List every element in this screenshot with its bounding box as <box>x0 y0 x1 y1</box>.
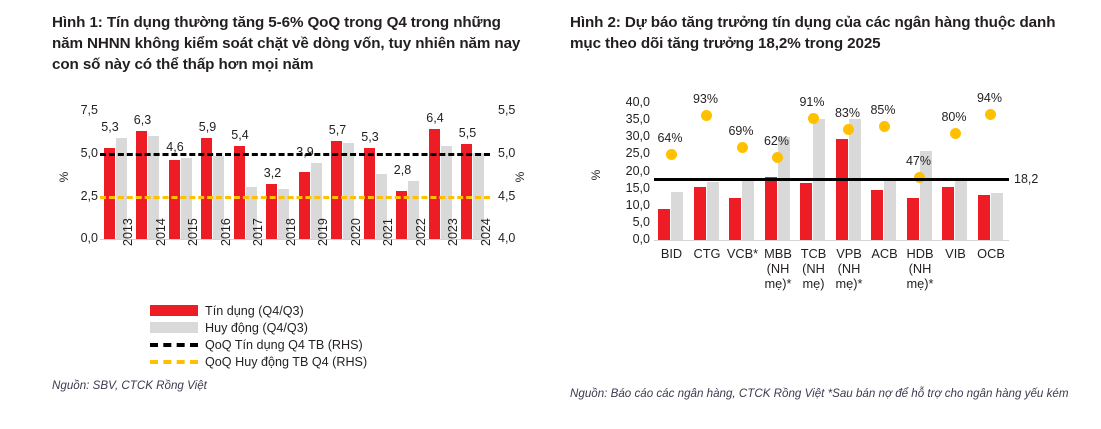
y-tick-5-0: 5,0 <box>594 215 650 229</box>
y-tick-right-5.0: 5,0 <box>498 146 538 160</box>
x-label-2015: 2015 <box>186 218 200 246</box>
x-label-2017: 2017 <box>251 218 265 246</box>
legend-item-credit: Tín dụng (Q4/Q3) <box>150 302 367 319</box>
completion-dot-MBB <box>772 152 783 163</box>
x-label-2021: 2021 <box>381 218 395 246</box>
figure-2-plot: 0,05,010,015,020,025,030,035,040,0 % 64%… <box>556 0 1101 310</box>
bar-credit-2019 <box>299 172 310 239</box>
figure-1-panel: Hình 1: Tín dụng thường tăng 5-6% QoQ tr… <box>0 0 556 429</box>
bar-credit-2024 <box>461 144 472 239</box>
figure-1-x-axis-labels: 2013201420152016201720182019202020212022… <box>100 244 490 294</box>
completion-dot-BID <box>666 149 677 160</box>
bar-credit-2015 <box>169 160 180 239</box>
completion-label-BID: 64% <box>650 131 690 145</box>
data-label-credit-2014: 6,3 <box>126 113 160 127</box>
y-tick-right-5.5: 5,5 <box>498 103 538 117</box>
grey-bar-swatch-icon <box>150 322 198 333</box>
reference-line-portfolio <box>654 178 1009 181</box>
y-tick-left-0.0: 0,0 <box>40 231 98 245</box>
x-label-2023: 2023 <box>446 218 460 246</box>
bar-credit-2025f-OCB <box>991 193 1003 240</box>
data-label-credit-2024: 5,5 <box>451 126 485 140</box>
completion-dot-CTG <box>701 110 712 121</box>
figure-pair-page: Hình 1: Tín dụng thường tăng 5-6% QoQ tr… <box>0 0 1101 429</box>
x-label-2018: 2018 <box>284 218 298 246</box>
bar-credit-2023 <box>429 129 440 239</box>
bar-credit-2025f-VCB* <box>742 178 754 240</box>
reference-line-credit-avg <box>100 153 490 156</box>
bar-credit-9m-VPB <box>836 139 848 240</box>
completion-dot-ACB <box>879 121 890 132</box>
data-label-credit-2020: 5,7 <box>321 123 355 137</box>
data-label-credit-2016: 5,9 <box>191 120 225 134</box>
bar-credit-2021 <box>364 148 375 239</box>
completion-dot-VCB* <box>737 142 748 153</box>
data-label-credit-2022: 2,8 <box>386 163 420 177</box>
completion-label-MBB: 62% <box>757 134 797 148</box>
y-axis-label: % <box>589 163 603 187</box>
x-label-2022: 2022 <box>414 218 428 246</box>
y-axis-label-left: % <box>57 165 71 189</box>
completion-label-OCB: 94% <box>970 91 1010 105</box>
completion-label-CTG: 93% <box>686 92 726 106</box>
completion-label-TCB: 91% <box>792 95 832 109</box>
completion-dot-VIB <box>950 128 961 139</box>
completion-label-VPB: 83% <box>828 106 868 120</box>
y-tick-25-0: 25,0 <box>594 146 650 160</box>
bar-credit-9m-VCB* <box>729 198 741 240</box>
bar-credit-2025f-CTG <box>707 182 719 240</box>
yellow-dashed-line-swatch-icon <box>150 360 198 364</box>
completion-label-HDB: 47% <box>899 154 939 168</box>
completion-label-VIB: 80% <box>934 110 974 124</box>
x-label-2024: 2024 <box>479 218 493 246</box>
y-tick-0-0: 0,0 <box>594 232 650 246</box>
completion-dot-OCB <box>985 109 996 120</box>
bar-credit-9m-MBB <box>765 177 777 240</box>
legend-item-deposit-avg: QoQ Huy động TB Q4 (RHS) <box>150 353 367 370</box>
y-tick-left-7.5: 7,5 <box>40 103 98 117</box>
x-label-OCB: OCB <box>971 246 1012 261</box>
bar-credit-9m-OCB <box>978 195 990 240</box>
bar-credit-2025f-BID <box>671 192 683 240</box>
figure-2-x-axis-labels: BIDCTGVCB*MBB (NH mẹ)*TCB (NH mẹ)VPB (NH… <box>654 246 1009 308</box>
figure-1-legend: Tín dụng (Q4/Q3) Huy động (Q4/Q3) QoQ Tí… <box>150 302 367 370</box>
y-axis-label-right: % <box>513 165 527 189</box>
x-label-2014: 2014 <box>154 218 168 246</box>
reference-line-value-label: 18,2 <box>1014 172 1074 186</box>
black-dashed-line-swatch-icon <box>150 343 198 347</box>
bar-credit-2014 <box>136 131 147 239</box>
y-tick-right-4.5: 4,5 <box>498 189 538 203</box>
data-label-credit-2017: 5,4 <box>223 128 257 142</box>
completion-dot-TCB <box>808 113 819 124</box>
bar-credit-9m-BID <box>658 209 670 240</box>
x-label-2019: 2019 <box>316 218 330 246</box>
y-tick-10-0: 10,0 <box>594 198 650 212</box>
bar-credit-2025f-VIB <box>955 178 967 240</box>
data-label-credit-2021: 5,3 <box>353 130 387 144</box>
reference-line-deposit-avg <box>100 196 490 199</box>
figure-2-panel: Hình 2: Dự báo tăng trưởng tín dụng của … <box>556 0 1101 429</box>
legend-label: QoQ Tín dụng Q4 TB (RHS) <box>205 338 363 352</box>
completion-dot-VPB <box>843 124 854 135</box>
y-tick-35-0: 35,0 <box>594 112 650 126</box>
bar-credit-9m-VIB <box>942 187 954 240</box>
completion-label-VCB*: 69% <box>721 124 761 138</box>
bar-credit-9m-TCB <box>800 183 812 240</box>
legend-label: Huy động (Q4/Q3) <box>205 321 308 335</box>
y-tick-left-2.5: 2,5 <box>40 189 98 203</box>
bar-credit-9m-CTG <box>694 187 706 240</box>
data-label-credit-2013: 5,3 <box>93 120 127 134</box>
legend-item-deposit: Huy động (Q4/Q3) <box>150 319 367 336</box>
data-label-credit-2018: 3,2 <box>256 166 290 180</box>
legend-label: Tín dụng (Q4/Q3) <box>205 304 304 318</box>
x-axis-line <box>654 240 1009 241</box>
x-label-2020: 2020 <box>349 218 363 246</box>
bar-credit-2018 <box>266 184 277 239</box>
completion-label-ACB: 85% <box>863 103 903 117</box>
y-tick-right-4.0: 4,0 <box>498 231 538 245</box>
figure-2-bar-group: 64%93%69%62%91%83%85%47%80%94% <box>654 103 1009 240</box>
bar-credit-2025f-ACB <box>884 178 896 240</box>
bar-credit-9m-HDB <box>907 198 919 240</box>
legend-label: QoQ Huy động TB Q4 (RHS) <box>205 355 367 369</box>
x-label-2013: 2013 <box>121 218 135 246</box>
y-tick-40-0: 40,0 <box>594 95 650 109</box>
bar-credit-9m-ACB <box>871 190 883 240</box>
x-label-2016: 2016 <box>219 218 233 246</box>
y-tick-30-0: 30,0 <box>594 129 650 143</box>
figure-1-plot: 7,5 5,0 2,5 0,0 5,5 5,0 4,5 4,0 % % 5,36… <box>0 0 556 300</box>
legend-item-credit-avg: QoQ Tín dụng Q4 TB (RHS) <box>150 336 367 353</box>
red-bar-swatch-icon <box>150 305 198 316</box>
y-tick-left-5.0: 5,0 <box>40 146 98 160</box>
bar-credit-2017 <box>234 146 245 239</box>
bar-credit-2013 <box>104 148 115 239</box>
figure-2-source: Nguồn: Báo cáo các ngân hàng, CTCK Rồng … <box>570 386 1070 401</box>
figure-1-source: Nguồn: SBV, CTCK Rồng Việt <box>52 378 382 393</box>
data-label-credit-2023: 6,4 <box>418 111 452 125</box>
